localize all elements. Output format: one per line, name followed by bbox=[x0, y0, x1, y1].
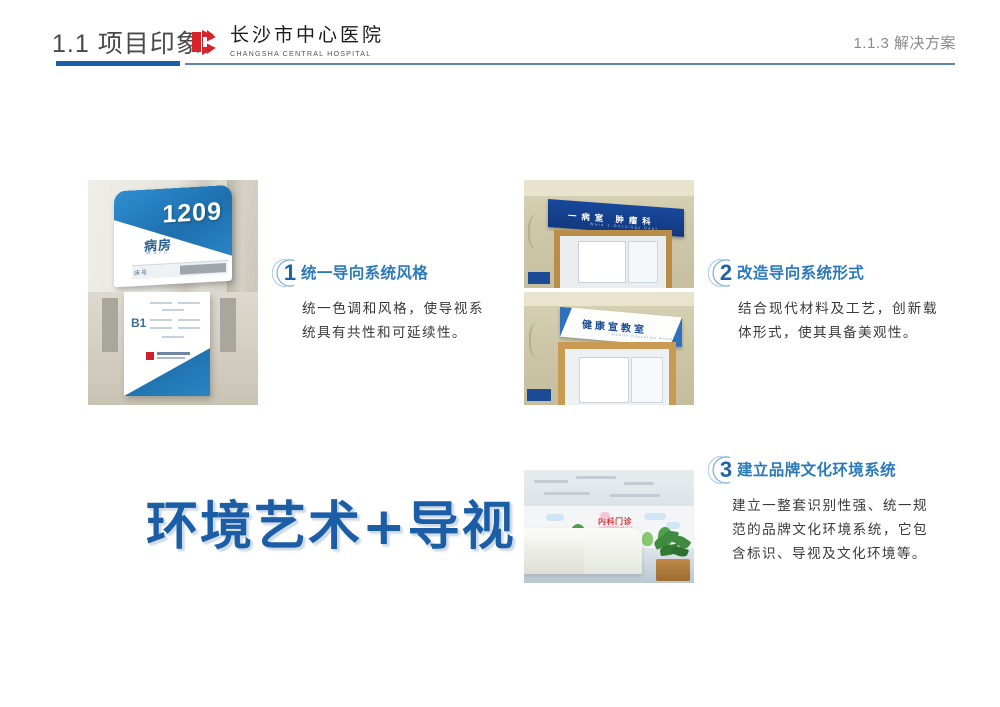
ward-bed-label: 床号 bbox=[134, 267, 148, 277]
feature-item-2-number: 2 bbox=[716, 259, 736, 287]
directory-floor-label: B1 bbox=[131, 316, 146, 330]
directory-text-line bbox=[150, 319, 172, 321]
hospital-name-cn: 长沙市中心医院 bbox=[230, 24, 384, 46]
notice-board bbox=[628, 241, 658, 283]
page-title: 1.1 项目印象 bbox=[52, 24, 202, 60]
slide-header: 1.1 项目印象 长沙市中心医院 CHANGSHA CENTRAL HOSPIT… bbox=[0, 0, 1000, 80]
doorway bbox=[560, 236, 666, 288]
wall-panel-right bbox=[220, 298, 236, 352]
directory-text-line bbox=[162, 309, 184, 311]
directory-text-line bbox=[178, 327, 200, 329]
ward-bed-plate bbox=[180, 263, 226, 275]
directory-hospital-logo-icon bbox=[146, 352, 190, 361]
directory-text-line bbox=[150, 327, 172, 329]
reception-desk-wing bbox=[524, 536, 584, 574]
wall-plaque bbox=[527, 389, 551, 401]
ceiling bbox=[524, 470, 694, 506]
directory-text-line bbox=[178, 302, 200, 304]
photo-clinic-lobby-wall-graphic: 内科门诊 Clinic bbox=[524, 470, 694, 583]
photo-health-education-room-sign: 健康宣教室 Health Education Room bbox=[524, 292, 694, 405]
header-accent-bar bbox=[56, 61, 180, 66]
logo-mark bbox=[146, 352, 154, 360]
directory-blue-field bbox=[124, 292, 210, 396]
ward-sign-panel: 1209 病房 Ward 床号 bbox=[114, 185, 232, 288]
feature-item-3-title: 建立品牌文化环境系统 bbox=[737, 458, 896, 480]
logo-subtext bbox=[157, 357, 185, 359]
directory-text-line bbox=[178, 319, 200, 321]
directory-text-line bbox=[150, 302, 172, 304]
hospital-name-en: CHANGSHA CENTRAL HOSPITAL bbox=[230, 50, 384, 57]
feature-item-1: 1 统一导向系统风格 统一色调和风格，使导视系统具有共性和可延续性。 bbox=[272, 258, 484, 345]
photo-blue-door-header-sign: 一病室 肿瘤科 Ward 1 Oncology Dept bbox=[524, 180, 694, 288]
number-badge-circle-icon: 2 bbox=[708, 258, 738, 288]
number-badge-circle-icon: 1 bbox=[272, 258, 302, 288]
feature-item-3-body: 建立一整套识别性强、统一规范的品牌文化环境系统，它包含标识、导视及文化环境等。 bbox=[732, 494, 928, 566]
slide-root: 1.1 项目印象 长沙市中心医院 CHANGSHA CENTRAL HOSPIT… bbox=[0, 0, 1000, 707]
ceiling bbox=[524, 292, 694, 306]
feature-item-1-number: 1 bbox=[280, 259, 300, 287]
feature-item-2: 2 改造导向系统形式 结合现代材料及工艺，创新载体形式，使其具备美观性。 bbox=[708, 258, 940, 345]
feature-item-1-title: 统一导向系统风格 bbox=[301, 261, 428, 283]
header-subsection-label: 1.1.3 解决方案 bbox=[853, 32, 956, 53]
header-rule-line bbox=[185, 63, 955, 65]
door-frame bbox=[558, 342, 676, 405]
photo-ward-room-sign: 1209 病房 Ward 床号 bbox=[88, 180, 258, 292]
hospital-logo: 长沙市中心医院 CHANGSHA CENTRAL HOSPITAL bbox=[190, 22, 384, 62]
doorway bbox=[565, 349, 669, 405]
feature-item-2-head: 2 改造导向系统形式 bbox=[708, 258, 940, 288]
directory-text-line bbox=[162, 336, 184, 338]
wall-plaque bbox=[528, 272, 550, 284]
notice-board bbox=[631, 357, 663, 403]
photo-floor-directory-sign: B1 bbox=[88, 292, 258, 405]
notice-board bbox=[578, 241, 626, 283]
ward-room-number: 1209 bbox=[162, 197, 222, 229]
feature-item-3-head: 3 建立品牌文化环境系统 bbox=[708, 455, 946, 485]
hospital-logo-text: 长沙市中心医院 CHANGSHA CENTRAL HOSPITAL bbox=[230, 26, 384, 57]
ward-room-label-en: Ward bbox=[146, 249, 170, 256]
wall-panel-left bbox=[102, 298, 118, 352]
ceiling bbox=[524, 180, 694, 196]
feature-item-3: 3 建立品牌文化环境系统 建立一整套识别性强、统一规范的品牌文化环境系统，它包含… bbox=[708, 455, 946, 566]
feature-item-2-title: 改造导向系统形式 bbox=[737, 261, 864, 283]
feature-item-2-body: 结合现代材料及工艺，创新载体形式，使其具备美观性。 bbox=[738, 297, 938, 345]
notice-board bbox=[579, 357, 629, 403]
number-badge-circle-icon: 3 bbox=[708, 455, 738, 485]
ward-bed-strip: 床号 bbox=[132, 260, 228, 279]
slide-headline: 环境艺术+导视 bbox=[146, 484, 516, 559]
wall-decor-arc bbox=[529, 322, 551, 358]
directory-sign-panel: B1 bbox=[124, 292, 210, 396]
feature-item-3-number: 3 bbox=[716, 456, 736, 484]
door-frame bbox=[554, 230, 672, 288]
hospital-cross-logo-icon bbox=[190, 28, 222, 56]
feature-item-1-head: 1 统一导向系统风格 bbox=[272, 258, 484, 288]
plant-pot bbox=[656, 559, 690, 581]
logo-wordmark bbox=[157, 352, 190, 355]
feature-item-1-body: 统一色调和风格，使导视系统具有共性和可延续性。 bbox=[302, 297, 484, 345]
